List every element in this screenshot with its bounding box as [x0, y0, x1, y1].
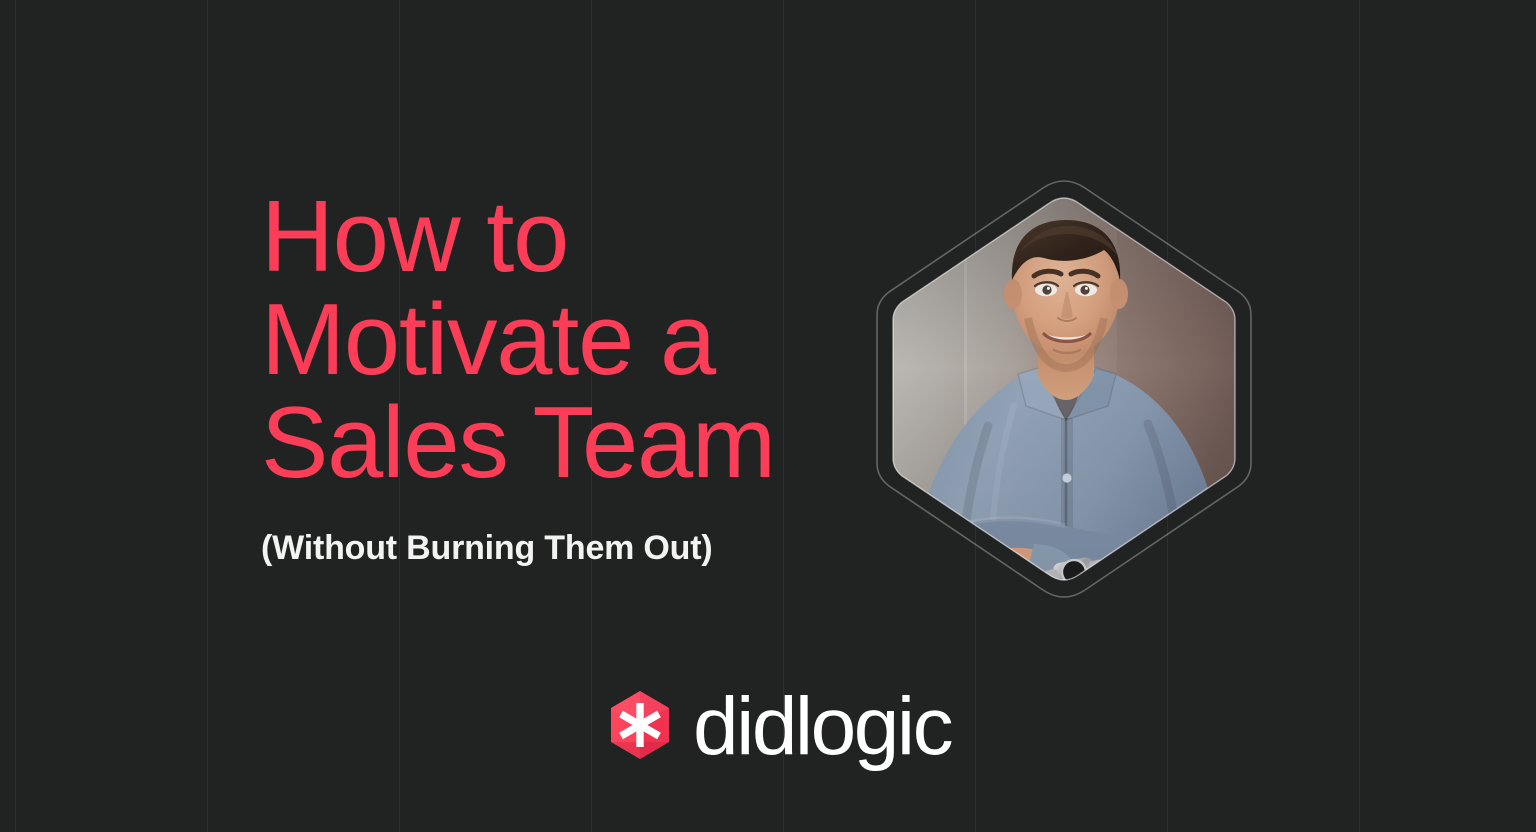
headline-line-2: Motivate a: [261, 289, 861, 392]
headline-line-3: Sales Team: [261, 392, 861, 495]
page-title: How to Motivate a Sales Team: [261, 186, 861, 495]
cover-canvas: How to Motivate a Sales Team (Without Bu…: [0, 0, 1536, 832]
hexagon-asterisk-icon: [609, 690, 671, 765]
subtitle: (Without Burning Them Out): [261, 528, 713, 568]
logo-wordmark: didlogic: [693, 686, 951, 768]
portrait-photo: [868, 168, 1264, 610]
portrait-hexagon: [868, 168, 1264, 610]
didlogic-logo[interactable]: didlogic: [609, 686, 951, 768]
headline-line-1: How to: [261, 186, 861, 289]
